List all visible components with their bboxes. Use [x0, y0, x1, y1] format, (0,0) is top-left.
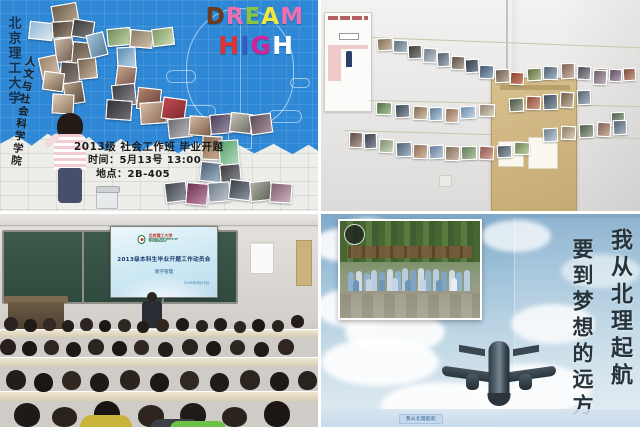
photo-students-group: [346, 258, 475, 291]
hung-photo: [543, 128, 559, 143]
desk-row: [0, 391, 318, 401]
university-name-vertical: 北京理工大学: [5, 16, 20, 106]
student-figure: [425, 270, 431, 292]
poster-figure-icon: [346, 51, 352, 67]
panel-dream-high-poster: DREAM HIGH 北京理工大学 人文与社会科学学院: [0, 0, 318, 211]
hung-photo: [577, 90, 592, 105]
hung-photo: [396, 142, 413, 158]
calligraphy-right-column: 我从北理起航: [608, 228, 631, 390]
hung-photo: [543, 94, 559, 111]
bit-logo: 北京理工大学 BEIJING INSTITUTE OF TECHNOLOGY: [138, 234, 191, 244]
poster-title-bar: [328, 16, 368, 20]
hung-photo: [465, 59, 480, 74]
hung-photo: [437, 52, 451, 67]
hung-photo: [429, 107, 443, 121]
hung-photo: [364, 133, 378, 149]
audience-head: [112, 341, 127, 356]
hung-photo: [445, 108, 460, 123]
photo-wall-room: [321, 0, 640, 211]
panel-sky-poster: 我从北理起航 要到梦想的远方 我从北理起航: [318, 211, 640, 427]
dream-title: DREAM: [206, 6, 304, 29]
audience-head: [62, 320, 74, 332]
wall-socket[interactable]: [439, 175, 452, 187]
bit-logo-line2: BEIJING INSTITUTE OF TECHNOLOGY: [149, 239, 191, 245]
hung-photo: [560, 92, 575, 109]
audience-head: [222, 407, 247, 427]
letter-photo: [249, 113, 274, 136]
audience-head: [120, 370, 140, 390]
side-bulletin-board: [296, 240, 312, 286]
bit-logo-mark-icon: [138, 235, 146, 244]
wall-chart: [250, 242, 274, 274]
hung-photo: [577, 66, 592, 81]
letter-photo: [28, 21, 54, 41]
audience-head: [270, 372, 289, 391]
hung-photo: [509, 98, 525, 113]
event-title-line: 2013级 社会工作班 毕业开题: [74, 140, 244, 154]
audience-head: [196, 320, 208, 332]
hung-photo: [479, 104, 495, 118]
hung-photo: [376, 102, 392, 116]
hung-photo: [497, 145, 512, 159]
dream-high-poster: DREAM HIGH 北京理工大学 人文与社会科学学院: [0, 0, 318, 211]
audience-head: [80, 318, 93, 331]
high-letter-0: H: [218, 31, 240, 60]
audience-head: [52, 407, 77, 427]
plane-horizontal-stabilizer-right: [513, 345, 539, 357]
hung-photo: [609, 69, 622, 82]
hung-photo: [451, 56, 465, 70]
cloud-doodle-icon: [290, 78, 310, 88]
audience-head: [134, 340, 149, 355]
hung-photo: [613, 120, 628, 135]
poster-bottom-bar: [321, 409, 640, 427]
letter-photo: [269, 182, 292, 203]
hung-photo: [561, 63, 576, 79]
hung-photo: [429, 145, 445, 160]
audience-head: [137, 321, 149, 333]
plane-engine-left: [466, 374, 479, 390]
group-photo: [338, 219, 482, 320]
dream-letter-0: D: [206, 4, 226, 30]
hung-photo: [495, 69, 510, 84]
hung-photo: [561, 126, 576, 141]
letter-photo: [185, 182, 209, 206]
dream-letter-1: R: [226, 4, 245, 30]
audience-shoulder: [80, 415, 132, 427]
hung-photo: [395, 104, 410, 119]
dream-letter-4: M: [280, 4, 304, 30]
student-figure: [441, 271, 447, 292]
audience-head: [278, 339, 294, 355]
bottom-caption-chip: 我从北理起航: [399, 414, 443, 424]
letter-photo: [42, 71, 65, 93]
high-letter-1: I: [240, 31, 250, 60]
student-figure: [410, 270, 416, 293]
hung-photo: [445, 146, 461, 162]
photo-collage: DREAM HIGH 北京理工大学 人文与社会科学学院: [0, 0, 640, 427]
hung-photo: [514, 142, 530, 156]
panel-lecture-hall: 北京理工大学 BEIJING INSTITUTE OF TECHNOLOGY 2…: [0, 211, 318, 427]
poster-center-box: [339, 33, 359, 40]
hung-photo: [413, 144, 429, 160]
letter-photo: [106, 27, 131, 47]
audience-head: [214, 318, 227, 331]
photo-pergola: [348, 246, 471, 258]
hung-photo: [349, 132, 364, 148]
audience-head: [234, 321, 246, 333]
framed-poster: [324, 12, 372, 112]
hung-photo: [479, 146, 495, 161]
audience-head: [90, 373, 109, 392]
audience-head: [43, 318, 56, 331]
hung-photo: [479, 65, 494, 80]
cloud-shape: [321, 338, 439, 386]
hung-photo: [379, 139, 395, 154]
screen-glow: [111, 275, 217, 297]
audience-head: [118, 319, 131, 332]
hung-photo: [527, 68, 543, 82]
blackboard-divider: [82, 232, 84, 302]
desk-row: [0, 357, 318, 366]
hung-photo: [623, 68, 637, 82]
audience-head: [272, 320, 284, 332]
high-letter-3: H: [272, 31, 294, 60]
hung-photo: [526, 96, 541, 111]
paint-can-icon: [96, 189, 118, 209]
audience-head: [99, 320, 111, 332]
dream-letter-3: A: [261, 4, 280, 30]
audience-head: [298, 371, 317, 390]
audience-head: [24, 319, 37, 332]
sky-graduation-poster: 我从北理起航 要到梦想的远方 我从北理起航: [321, 214, 640, 427]
hung-photo: [460, 106, 477, 120]
audience-head: [254, 342, 269, 357]
screen-title: 2013级本科生毕业开题工作动员会: [111, 255, 217, 263]
hung-photo: [423, 48, 438, 64]
projection-screen: 北京理工大学 BEIJING INSTITUTE OF TECHNOLOGY 2…: [110, 226, 218, 298]
audience-head: [182, 339, 198, 355]
audience-head: [252, 319, 265, 332]
hung-photo: [543, 66, 558, 81]
audience-head: [176, 318, 189, 331]
plane-engine-right: [519, 374, 532, 390]
hung-photo: [377, 38, 394, 52]
letter-photo: [77, 57, 98, 80]
audience-head: [66, 342, 81, 357]
audience-head: [206, 341, 221, 356]
event-info-block: 2013级 社会工作班 毕业开题 时间：5月13号 13:00 地点：2B-40…: [74, 140, 244, 181]
audience-head: [158, 342, 173, 357]
calligraphy-left-column: 要到梦想的远方: [571, 238, 593, 420]
audience-head: [150, 373, 169, 392]
airplane-graphic: [439, 341, 559, 403]
audience-shoulder: [170, 421, 226, 427]
audience-head: [34, 373, 53, 392]
hung-photo: [393, 40, 408, 54]
audience-head: [6, 370, 26, 390]
audience-head: [291, 315, 304, 328]
event-time-line: 时间：5月13号 13:00: [74, 154, 244, 168]
cloud-doodle-icon: [166, 70, 196, 83]
audience-head: [22, 341, 37, 356]
high-title: HIGH: [218, 33, 294, 58]
panel-photo-wall: [318, 0, 640, 211]
lecture-hall-scene: 北京理工大学 BEIJING INSTITUTE OF TECHNOLOGY 2…: [0, 214, 318, 427]
cloud-shape: [481, 220, 551, 252]
event-location-line: 地点：2B-405: [74, 168, 244, 182]
audience-head: [4, 317, 18, 331]
audience-head: [210, 373, 229, 392]
audience-seating: [0, 315, 318, 427]
hung-photo: [408, 45, 422, 59]
corkboard-note: [500, 85, 570, 90]
audience-head: [0, 339, 16, 355]
hung-photo: [593, 70, 608, 85]
hung-photo: [597, 122, 612, 138]
audience-head: [230, 340, 245, 355]
hung-photo: [413, 106, 429, 121]
audience-head: [14, 403, 40, 427]
audience-head: [264, 401, 290, 427]
dream-letter-2: E: [245, 4, 262, 30]
high-letter-2: G: [251, 31, 273, 60]
cloud-doodle-icon: [268, 110, 302, 123]
student-figure: [464, 270, 470, 292]
audience-head: [240, 370, 260, 390]
student-figure: [456, 272, 462, 292]
bit-logo-text: 北京理工大学 BEIJING INSTITUTE OF TECHNOLOGY: [149, 234, 191, 244]
hung-photo: [579, 124, 594, 139]
hung-photo: [461, 146, 477, 161]
letter-photo: [105, 99, 132, 121]
audience-head: [62, 371, 81, 390]
hung-photo: [510, 72, 525, 86]
watermark-logo-icon: [344, 224, 365, 245]
audience-head: [156, 319, 169, 332]
audience-head: [44, 340, 59, 355]
audience-head: [88, 339, 104, 355]
letter-photo: [51, 93, 74, 114]
letter-photo: [207, 181, 230, 202]
audience-head: [180, 371, 199, 390]
photo-ground: [340, 291, 480, 318]
letter-photo: [151, 27, 175, 48]
plane-horizontal-stabilizer-left: [459, 345, 485, 357]
